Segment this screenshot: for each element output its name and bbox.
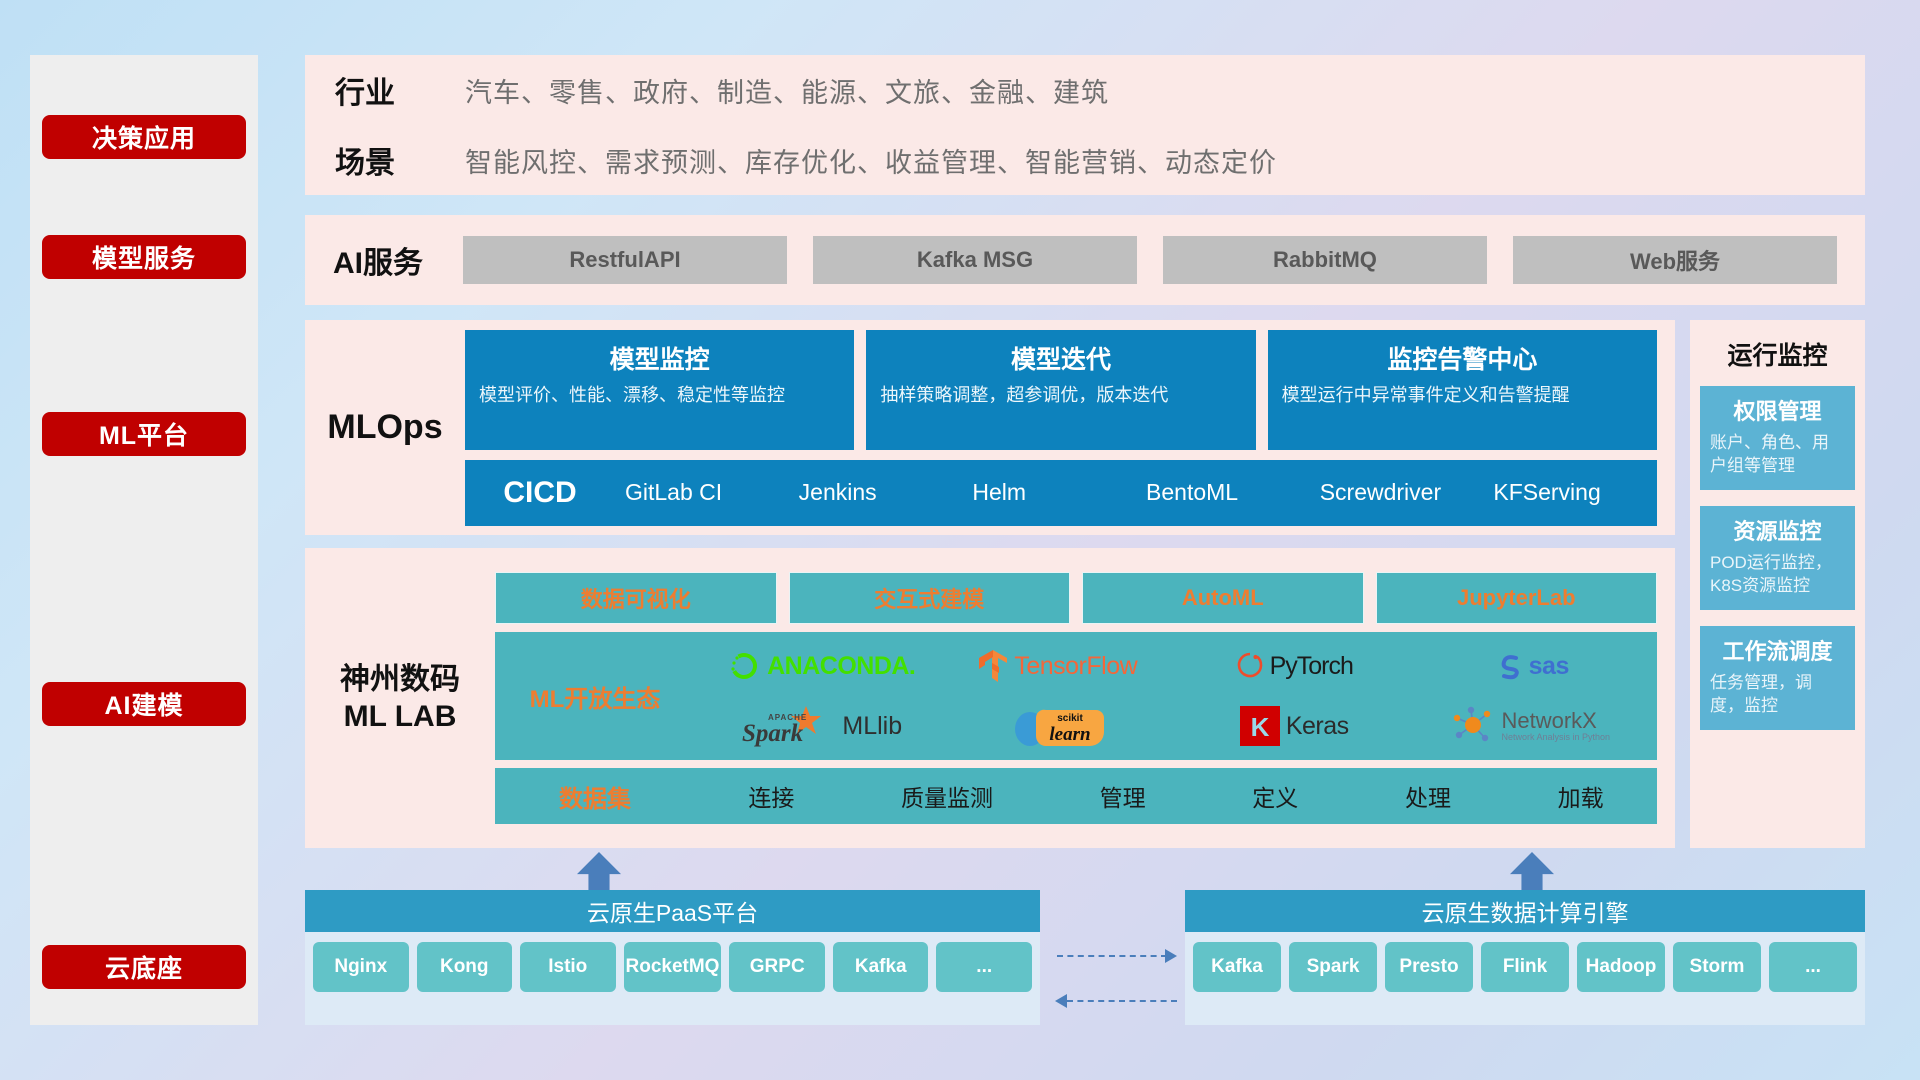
rail-chip-ai-modeling[interactable]: AI建模 [42, 682, 246, 726]
keras-logo[interactable]: K Keras [1240, 706, 1349, 746]
engine-chip-spark[interactable]: Spark [1289, 942, 1377, 992]
dataset-item-define[interactable]: 定义 [1252, 779, 1298, 813]
card-desc: 模型评价、性能、漂移、稳定性等监控 [479, 384, 840, 407]
pytorch-logo[interactable]: PyTorch [1236, 650, 1353, 682]
rail-chip-decision-app[interactable]: 决策应用 [42, 115, 246, 159]
card-desc: 模型运行中异常事件定义和告警提醒 [1282, 384, 1643, 407]
svg-text:learn: learn [1049, 724, 1090, 745]
dataset-label: 数据集 [495, 779, 695, 814]
cicd-item-list: GitLab CI Jenkins Helm BentoML Screwdriv… [615, 479, 1657, 505]
cloud-native-paas-bar: 云原生PaaS平台 [305, 890, 1040, 932]
cicd-item-bentoml[interactable]: BentoML [1136, 479, 1310, 505]
dash-arrowhead-left-icon [1055, 994, 1067, 1008]
tensorflow-logo[interactable]: TensorFlow [978, 649, 1137, 683]
mlops-card-model-iteration[interactable]: 模型迭代 抽样策略调整，超参调优，版本迭代 [866, 330, 1255, 450]
ml-lab-label-line1: 神州数码 [305, 661, 495, 699]
spark-mllib-logo-text: MLlib [842, 712, 902, 741]
card-title: 工作流调度 [1710, 634, 1845, 666]
card-title: 监控告警中心 [1282, 340, 1643, 376]
engine-chip-more[interactable]: ... [1769, 942, 1857, 992]
paas-chip-list: Nginx Kong Istio RocketMQ GRPC Kafka ... [305, 932, 1040, 1002]
engine-chip-flink[interactable]: Flink [1481, 942, 1569, 992]
paas-chip-istio[interactable]: Istio [520, 942, 616, 992]
paas-chip-more[interactable]: ... [936, 942, 1032, 992]
card-title: 模型监控 [479, 340, 840, 376]
dash-line-left [1067, 1000, 1177, 1002]
mlops-card-alert-center[interactable]: 监控告警中心 模型运行中异常事件定义和告警提醒 [1268, 330, 1657, 450]
svg-text:scikit: scikit [1057, 713, 1083, 724]
dataset-item-list: 连接 质量监测 管理 定义 处理 加载 [695, 779, 1657, 813]
cloud-native-data-engine-group: 云原生数据计算引擎 Kafka Spark Presto Flink Hadoo… [1185, 890, 1865, 1025]
cloud-native-engine-bar: 云原生数据计算引擎 [1185, 890, 1865, 932]
dataset-item-quality[interactable]: 质量监测 [901, 779, 993, 813]
card-title: 资源监控 [1710, 514, 1845, 546]
monitoring-card-workflow[interactable]: 工作流调度 任务管理，调度，监控 [1700, 626, 1855, 730]
cicd-item-helm[interactable]: Helm [962, 479, 1136, 505]
tab-automl[interactable]: AutoML [1082, 572, 1364, 624]
cloud-native-paas-group: 云原生PaaS平台 Nginx Kong Istio RocketMQ GRPC… [305, 890, 1040, 1025]
decision-app-band: 行业 汽车、零售、政府、制造、能源、文旅、金融、建筑 场景 智能风控、需求预测、… [305, 55, 1865, 195]
svg-text:Spark: Spark [742, 720, 804, 747]
scenario-row: 场景 智能风控、需求预测、库存优化、收益管理、智能营销、动态定价 [305, 125, 1865, 195]
mlops-card-list: 模型监控 模型评价、性能、漂移、稳定性等监控 模型迭代 抽样策略调整，超参调优，… [465, 330, 1657, 450]
dataset-item-manage[interactable]: 管理 [1100, 779, 1146, 813]
ai-service-chip-list: RestfulAPI Kafka MSG RabbitMQ Web服务 [463, 236, 1837, 284]
ml-lab-label: 神州数码 ML LAB [305, 661, 495, 736]
cicd-row: CICD GitLab CI Jenkins Helm BentoML Scre… [465, 460, 1657, 526]
mlops-band: MLOps 模型监控 模型评价、性能、漂移、稳定性等监控 模型迭代 抽样策略调整… [305, 320, 1675, 535]
engine-chip-presto[interactable]: Presto [1385, 942, 1473, 992]
paas-chip-kong[interactable]: Kong [417, 942, 513, 992]
ai-service-chip-web-service[interactable]: Web服务 [1513, 236, 1837, 284]
networkx-logo-subtext: Network Analysis in Python [1501, 732, 1610, 742]
svg-text:K: K [1250, 712, 1269, 742]
industry-label: 行业 [335, 68, 465, 112]
ai-service-label: AI服务 [333, 238, 463, 282]
ecosystem-logo-grid: ANACONDA. TensorFlow [695, 632, 1657, 760]
ml-open-ecosystem-row: ML开放生态 ANACONDA. [495, 632, 1657, 760]
cicd-item-screwdriver[interactable]: Screwdriver [1310, 479, 1484, 505]
paas-chip-grpc[interactable]: GRPC [729, 942, 825, 992]
ml-open-ecosystem-label: ML开放生态 [495, 679, 695, 714]
ml-lab-band: 神州数码 ML LAB 数据可视化 交互式建模 AutoML JupyterLa… [305, 548, 1675, 848]
card-desc: POD运行监控，K8S资源监控 [1710, 552, 1845, 598]
sas-logo-text: sas [1529, 652, 1569, 681]
rail-chip-ml-platform[interactable]: ML平台 [42, 412, 246, 456]
card-desc: 抽样策略调整，超参调优，版本迭代 [880, 384, 1241, 407]
paas-chip-kafka[interactable]: Kafka [833, 942, 929, 992]
tab-data-visualization[interactable]: 数据可视化 [495, 572, 777, 624]
keras-logo-text: Keras [1286, 712, 1349, 741]
sas-logo[interactable]: sas [1493, 651, 1569, 681]
tensorflow-logo-text: TensorFlow [1014, 652, 1137, 681]
spark-mllib-logo[interactable]: APACHE Spark MLlib [740, 704, 902, 748]
engine-chip-kafka[interactable]: Kafka [1193, 942, 1281, 992]
monitoring-card-resource[interactable]: 资源监控 POD运行监控，K8S资源监控 [1700, 506, 1855, 610]
cicd-item-kfserving[interactable]: KFServing [1483, 479, 1657, 505]
dataset-item-connect[interactable]: 连接 [748, 779, 794, 813]
cicd-item-jenkins[interactable]: Jenkins [789, 479, 963, 505]
networkx-logo[interactable]: NetworkX Network Analysis in Python [1451, 706, 1610, 746]
dataset-item-load[interactable]: 加载 [1558, 779, 1604, 813]
industry-value: 汽车、零售、政府、制造、能源、文旅、金融、建筑 [465, 71, 1109, 110]
tab-interactive-modeling[interactable]: 交互式建模 [789, 572, 1071, 624]
card-title: 模型迭代 [880, 340, 1241, 376]
ai-service-chip-kafka-msg[interactable]: Kafka MSG [813, 236, 1137, 284]
dataset-item-process[interactable]: 处理 [1405, 779, 1451, 813]
cicd-label: CICD [465, 476, 615, 510]
scikit-learn-logo[interactable]: scikit learn [1008, 702, 1108, 750]
ml-lab-label-line2: ML LAB [305, 698, 495, 736]
mlops-label: MLOps [305, 408, 465, 447]
industry-row: 行业 汽车、零售、政府、制造、能源、文旅、金融、建筑 [305, 55, 1865, 125]
engine-chip-hadoop[interactable]: Hadoop [1577, 942, 1665, 992]
tab-jupyterlab[interactable]: JupyterLab [1376, 572, 1658, 624]
dataset-row: 数据集 连接 质量监测 管理 定义 处理 加载 [495, 768, 1657, 824]
rail-chip-model-service[interactable]: 模型服务 [42, 235, 246, 279]
paas-chip-nginx[interactable]: Nginx [313, 942, 409, 992]
architecture-main: 行业 汽车、零售、政府、制造、能源、文旅、金融、建筑 场景 智能风控、需求预测、… [305, 0, 1905, 1080]
dash-arrowhead-right-icon [1165, 949, 1177, 963]
rail-chip-cloud-base[interactable]: 云底座 [42, 945, 246, 989]
cicd-item-gitlab-ci[interactable]: GitLab CI [615, 479, 789, 505]
scenario-label: 场景 [335, 138, 465, 182]
pytorch-logo-text: PyTorch [1270, 652, 1353, 681]
mlops-card-model-monitoring[interactable]: 模型监控 模型评价、性能、漂移、稳定性等监控 [465, 330, 854, 450]
card-desc: 任务管理，调度，监控 [1710, 672, 1845, 718]
anaconda-logo[interactable]: ANACONDA. [727, 649, 915, 683]
ai-service-chip-rabbitmq[interactable]: RabbitMQ [1163, 236, 1487, 284]
engine-chip-storm[interactable]: Storm [1673, 942, 1761, 992]
layer-rail: 决策应用 模型服务 ML平台 AI建模 云底座 [30, 55, 258, 1025]
ml-lab-tab-list: 数据可视化 交互式建模 AutoML JupyterLab [495, 572, 1657, 624]
runtime-monitoring-band: 运行监控 权限管理 账户、角色、用户组等管理 资源监控 POD运行监控，K8S资… [1690, 320, 1865, 848]
dash-line-right [1057, 955, 1167, 957]
anaconda-logo-text: ANACONDA. [767, 652, 915, 681]
monitoring-card-permission[interactable]: 权限管理 账户、角色、用户组等管理 [1700, 386, 1855, 490]
paas-chip-rocketmq[interactable]: RocketMQ [624, 942, 722, 992]
card-title: 权限管理 [1710, 394, 1845, 426]
scenario-value: 智能风控、需求预测、库存优化、收益管理、智能营销、动态定价 [465, 141, 1277, 180]
ai-service-band: AI服务 RestfulAPI Kafka MSG RabbitMQ Web服务 [305, 215, 1865, 305]
ai-service-chip-restfulapi[interactable]: RestfulAPI [463, 236, 787, 284]
runtime-monitoring-title: 运行监控 [1700, 336, 1855, 372]
card-desc: 账户、角色、用户组等管理 [1710, 432, 1845, 478]
networkx-logo-text: NetworkX [1501, 710, 1610, 732]
engine-chip-list: Kafka Spark Presto Flink Hadoop Storm ..… [1185, 932, 1865, 1002]
